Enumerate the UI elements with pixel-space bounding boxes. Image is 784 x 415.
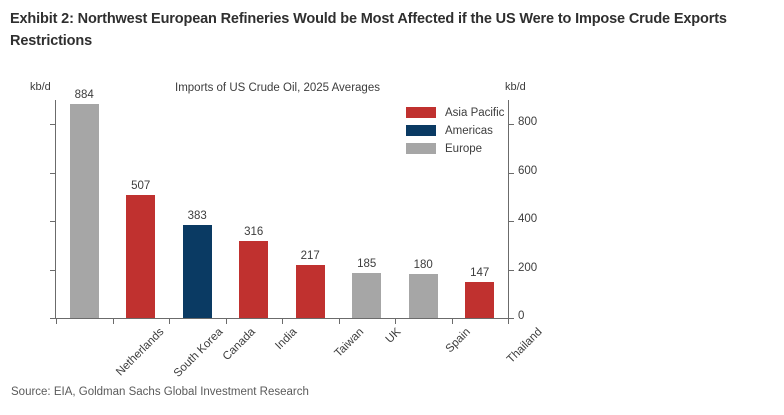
- tick-label: 600: [518, 165, 537, 177]
- x-axis-label-canada: Canada: [221, 326, 258, 363]
- legend-item[interactable]: Europe: [406, 140, 536, 157]
- x-axis-label-netherlands: Netherlands: [114, 326, 166, 378]
- legend-swatch-europe: [406, 143, 436, 154]
- tick-label: 400: [518, 213, 537, 225]
- tick-mark: [509, 270, 514, 271]
- bar-value-label: 180: [409, 259, 438, 271]
- bar-value-label: 217: [296, 250, 325, 262]
- x-axis-category-labels: NetherlandsSouth KoreaCanadaIndiaTaiwanU…: [56, 326, 508, 386]
- bar-value-label: 884: [70, 89, 99, 101]
- x-axis-tick-mark: [508, 319, 509, 324]
- tick-label: 200: [518, 262, 537, 274]
- bar[interactable]: [183, 225, 212, 318]
- legend-label-europe: Europe: [445, 143, 482, 155]
- tick-mark: [509, 173, 514, 174]
- tick-mark: [50, 173, 55, 174]
- x-axis-tick-mark: [339, 319, 340, 324]
- left-axis-unit-label: kb/d: [30, 81, 51, 93]
- tick-mark: [50, 318, 55, 319]
- bar-group: 217: [296, 100, 325, 318]
- bar-group: 507: [126, 100, 155, 318]
- bar-group: 316: [239, 100, 268, 318]
- x-axis-label-south-korea: South Korea: [171, 326, 225, 380]
- x-axis-tick-mark: [282, 319, 283, 324]
- x-axis-label-india: India: [273, 326, 299, 352]
- tick-mark: [509, 221, 514, 222]
- tick-mark: [50, 221, 55, 222]
- bar[interactable]: [70, 104, 99, 318]
- legend-label-americas: Americas: [445, 125, 493, 137]
- x-axis-tick-mark: [452, 319, 453, 324]
- tick-mark: [509, 318, 514, 319]
- bar-value-label: 507: [126, 180, 155, 192]
- bar[interactable]: [126, 195, 155, 318]
- tick-mark: [50, 124, 55, 125]
- bar[interactable]: [296, 265, 325, 318]
- x-axis-label-taiwan: Taiwan: [333, 326, 367, 360]
- bar-group: 884: [70, 100, 99, 318]
- x-axis-tick-mark: [169, 319, 170, 324]
- x-axis-label-uk: UK: [383, 326, 403, 346]
- x-axis-tick-mark: [226, 319, 227, 324]
- legend-swatch-asia-pacific: [406, 107, 436, 118]
- bar-group: 185: [352, 100, 381, 318]
- legend-item[interactable]: Asia Pacific: [406, 104, 536, 121]
- chart-container: kb/d kb/d Imports of US Crude Oil, 2025 …: [0, 78, 784, 374]
- legend-label-asia-pacific: Asia Pacific: [445, 107, 504, 119]
- bar[interactable]: [409, 274, 438, 318]
- bar-value-label: 147: [465, 267, 494, 279]
- bar-group: 383: [183, 100, 212, 318]
- x-axis-tick-mark: [56, 319, 57, 324]
- x-axis-tick-mark: [113, 319, 114, 324]
- bar-value-label: 383: [183, 210, 212, 222]
- bar[interactable]: [239, 241, 268, 318]
- bar-value-label: 185: [352, 258, 381, 270]
- tick-label: 0: [518, 310, 524, 322]
- bar[interactable]: [352, 273, 381, 318]
- legend-item[interactable]: Americas: [406, 122, 536, 139]
- page-title: Exhibit 2: Northwest European Refineries…: [10, 8, 778, 53]
- x-axis-label-thailand: Thailand: [505, 326, 545, 366]
- right-axis-unit-label: kb/d: [505, 81, 526, 93]
- bar[interactable]: [465, 282, 494, 318]
- x-axis-label-spain: Spain: [444, 326, 473, 355]
- chart-subtitle: Imports of US Crude Oil, 2025 Averages: [175, 82, 380, 94]
- legend-swatch-americas: [406, 125, 436, 136]
- bar-value-label: 316: [239, 226, 268, 238]
- x-axis-ticks: [56, 319, 508, 325]
- tick-mark: [50, 270, 55, 271]
- source-note: Source: EIA, Goldman Sachs Global Invest…: [11, 386, 309, 398]
- x-axis-tick-mark: [395, 319, 396, 324]
- legend: Asia Pacific Americas Europe: [406, 104, 536, 158]
